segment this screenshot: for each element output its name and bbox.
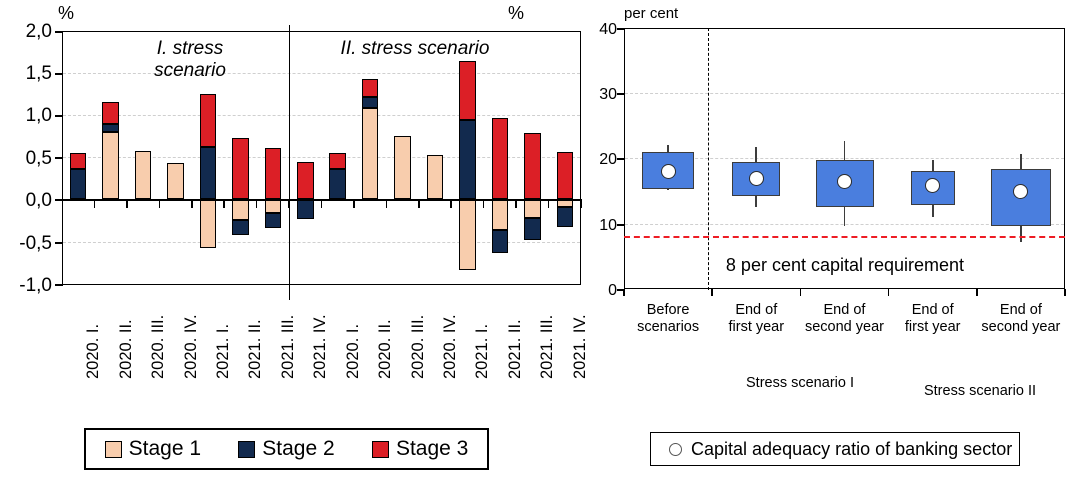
- bar-segment: [232, 138, 249, 199]
- bar-segment: [297, 162, 314, 199]
- bar-segment: [492, 230, 509, 253]
- legend-item-stage-2: Stage 2: [238, 437, 334, 461]
- bar-segment: [102, 102, 119, 123]
- right-xtick: [711, 289, 713, 296]
- right-xaxis-label: End offirst year: [712, 302, 800, 336]
- left-xaxis-label: 2020. III.: [150, 315, 167, 379]
- right-scenario-label-1: Stress scenario I: [710, 375, 890, 392]
- left-xaxis-label: 2020. III.: [410, 315, 427, 379]
- right-xaxis-label-line: first year: [889, 319, 977, 336]
- bar-segment: [394, 136, 411, 199]
- left-gridline-1.0: [63, 115, 580, 116]
- left-xtick: [386, 199, 388, 208]
- legend-label-stage-2: Stage 2: [262, 437, 334, 461]
- annotation-stress-scenario-2: II. stress scenario: [300, 38, 530, 60]
- right-xaxis-label-line: End of: [977, 302, 1065, 319]
- stage-contribution-chart: % % 2,0 1,5 1,0 0,5 0,0 -0,5 -1,0 I. str…: [0, 0, 595, 487]
- left-xaxis-label: 2021. IV.: [572, 314, 589, 379]
- bar-segment: [265, 213, 282, 228]
- right-xaxis-label: End ofsecond year: [977, 302, 1065, 336]
- left-xtick: [191, 199, 193, 208]
- right-xaxis-label: End offirst year: [889, 302, 977, 336]
- right-xaxis-label: End ofsecond year: [800, 302, 888, 336]
- left-xtick: [159, 199, 161, 208]
- bar-segment: [524, 199, 541, 218]
- right-ytick-30: 30: [591, 85, 617, 104]
- legend-label-capital-adequacy-ratio: Capital adequacy ratio of banking sector: [691, 439, 1012, 460]
- right-xaxis-label-line: scenarios: [624, 319, 712, 336]
- left-scenario-divider: [289, 25, 290, 300]
- left-xtick: [418, 199, 420, 208]
- legend-label-stage-1: Stage 1: [129, 437, 201, 461]
- left-xaxis-label: 2021. I.: [215, 324, 232, 379]
- bar-segment: [70, 169, 87, 199]
- left-xaxis-label: 2021. III.: [280, 315, 297, 379]
- left-xtick: [548, 199, 550, 208]
- bar-segment: [200, 199, 217, 248]
- left-ytick--0.5: -0,5: [0, 234, 52, 253]
- legend-item-stage-1: Stage 1: [105, 437, 201, 461]
- right-xtick-origin: [623, 289, 625, 296]
- right-scenario-label-2: Stress scenario II: [885, 383, 1075, 400]
- legend-swatch-stage-3: [372, 441, 389, 458]
- right-chart-legend: Capital adequacy ratio of banking sector: [650, 432, 1020, 466]
- left-xtick: [126, 199, 128, 208]
- bar-segment: [427, 155, 444, 199]
- left-xtick: [256, 199, 258, 208]
- bar-segment: [265, 148, 282, 199]
- left-xaxis-label: 2021. IV.: [312, 314, 329, 379]
- left-ytick-2.0: 2,0: [0, 22, 52, 41]
- right-xaxis-label-line: Before: [624, 302, 712, 319]
- boxplot-median-marker: [837, 174, 852, 189]
- bar-segment: [135, 151, 152, 199]
- right-xaxis-label-line: End of: [712, 302, 800, 319]
- bar-segment: [102, 132, 119, 199]
- bar-segment: [459, 120, 476, 199]
- bar-segment: [362, 79, 379, 98]
- right-ytick-10: 10: [591, 216, 617, 235]
- right-xaxis-label-line: first year: [712, 319, 800, 336]
- bar-segment: [329, 153, 346, 169]
- left-ytick-0.5: 0,5: [0, 149, 52, 168]
- bar-segment: [459, 61, 476, 120]
- left-xtick: [223, 199, 225, 208]
- annotation-stress-scenario-1-line1: I. stress: [110, 38, 270, 60]
- bar-segment: [70, 153, 87, 169]
- right-xaxis-label-line: End of: [889, 302, 977, 319]
- right-xaxis-label-line: second year: [977, 319, 1065, 336]
- left-xtick: [515, 199, 517, 208]
- capital-requirement-line: [624, 236, 1065, 238]
- left-ytick-0.0: 0,0: [0, 191, 52, 210]
- left-xaxis-label: 2021. II.: [507, 319, 524, 379]
- right-xaxis-label: Beforescenarios: [624, 302, 712, 336]
- bar-segment: [524, 133, 541, 199]
- left-chart-unit-left: %: [58, 6, 74, 21]
- left-ytick-1.0: 1,0: [0, 106, 52, 125]
- right-xtick: [1064, 289, 1066, 296]
- right-ytick-0: 0: [591, 281, 617, 300]
- legend-swatch-stage-1: [105, 441, 122, 458]
- right-xaxis-label-line: second year: [800, 319, 888, 336]
- right-gridline-30: [625, 93, 1064, 94]
- left-xaxis-label: 2020. I.: [85, 324, 102, 379]
- legend-item-stage-3: Stage 3: [372, 437, 468, 461]
- right-chart-unit: per cent: [624, 6, 678, 21]
- right-xtick: [800, 289, 802, 296]
- boxplot-median-marker: [1013, 184, 1028, 199]
- capital-adequacy-boxplot-chart: per cent 40 30 20 10 0 8 per cent capita…: [595, 0, 1087, 487]
- left-xaxis-label: 2021. II.: [247, 319, 264, 379]
- right-scenario-divider: [708, 28, 709, 290]
- left-xtick: [353, 199, 355, 208]
- right-xtick: [888, 289, 890, 296]
- left-xaxis-label: 2020. IV.: [183, 314, 200, 379]
- bar-segment: [297, 199, 314, 219]
- left-xaxis-label: 2020. IV.: [442, 314, 459, 379]
- left-xaxis-label: 2021. I.: [474, 324, 491, 379]
- boxplot-median-marker: [661, 164, 676, 179]
- bar-segment: [459, 199, 476, 270]
- legend-swatch-stage-2: [238, 441, 255, 458]
- bar-segment: [232, 220, 249, 235]
- left-xtick: [580, 199, 582, 208]
- right-xaxis-label-line: End of: [800, 302, 888, 319]
- bar-segment: [167, 163, 184, 199]
- bar-segment: [200, 94, 217, 147]
- boxplot-median-marker: [749, 171, 764, 186]
- left-xtick: [483, 199, 485, 208]
- left-ytick--1.0: -1,0: [0, 276, 52, 295]
- left-xtick: [450, 199, 452, 208]
- bar-segment: [102, 124, 119, 132]
- bar-segment: [557, 152, 574, 199]
- left-ytick-1.5: 1,5: [0, 64, 52, 83]
- bar-segment: [362, 97, 379, 108]
- legend-label-stage-3: Stage 3: [396, 437, 468, 461]
- bar-segment: [524, 218, 541, 240]
- annotation-stress-scenario-1: I. stress scenario: [110, 38, 270, 82]
- capital-requirement-label: 8 per cent capital requirement: [650, 255, 1040, 275]
- right-ytick-40: 40: [591, 20, 617, 39]
- bar-segment: [492, 199, 509, 230]
- left-xtick: [321, 199, 323, 208]
- bar-segment: [329, 169, 346, 199]
- bar-segment: [362, 108, 379, 199]
- legend-marker-circle-outline-icon: [669, 443, 682, 456]
- left-xaxis-label: 2021. III.: [539, 315, 556, 379]
- left-xaxis-label: 2020. II.: [377, 319, 394, 379]
- left-chart-legend: Stage 1 Stage 2 Stage 3: [84, 428, 489, 470]
- right-xtick: [976, 289, 978, 296]
- bar-segment: [200, 147, 217, 199]
- left-xtick: [94, 199, 96, 208]
- annotation-stress-scenario-1-line2: scenario: [110, 60, 270, 82]
- left-xaxis-label: 2020. II.: [118, 319, 135, 379]
- bar-segment: [492, 118, 509, 199]
- bar-segment: [232, 199, 249, 220]
- right-ytick-20: 20: [591, 150, 617, 169]
- left-xaxis-label: 2020. I.: [345, 324, 362, 379]
- bar-segment: [557, 207, 574, 227]
- boxplot-median-marker: [925, 178, 940, 193]
- left-chart-unit-right: %: [508, 6, 524, 21]
